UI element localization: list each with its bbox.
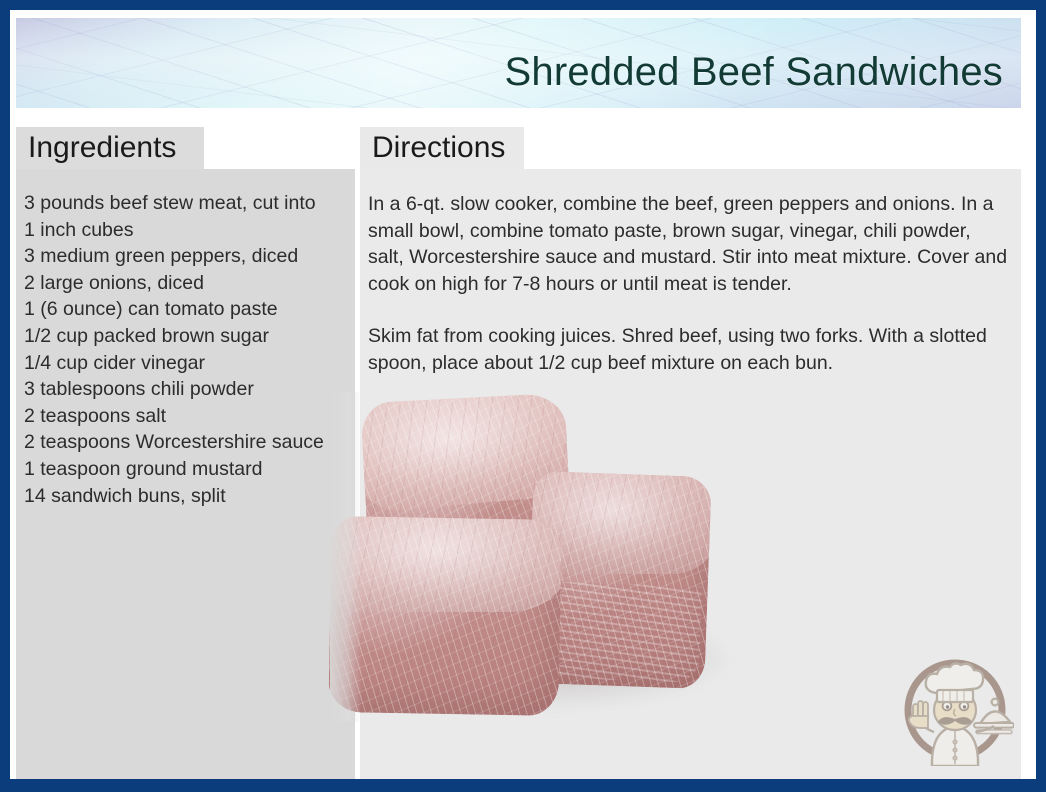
directions-heading: Directions [372, 129, 505, 167]
list-item: 1 (6 ounce) can tomato paste [24, 296, 360, 323]
list-item: 1/4 cup cider vinegar [24, 350, 360, 377]
directions-paragraph: In a 6-qt. slow cooker, combine the beef… [368, 191, 1008, 297]
ingredients-tab: Ingredients [16, 127, 204, 169]
header-banner: Shredded Beef Sandwiches [16, 18, 1021, 108]
list-item: 2 large onions, diced [24, 270, 360, 297]
chef-logo-watermark [896, 646, 1014, 766]
list-item: 1/2 cup packed brown sugar [24, 323, 360, 350]
page-title: Shredded Beef Sandwiches [505, 49, 1003, 95]
directions-tab: Directions [360, 127, 524, 169]
list-item: 2 teaspoons salt [24, 403, 360, 430]
directions-paragraph: Skim fat from cooking juices. Shred beef… [368, 323, 1008, 376]
directions-text: In a 6-qt. slow cooker, combine the beef… [368, 191, 1008, 403]
list-item: 3 tablespoons chili powder [24, 376, 360, 403]
list-item: 3 medium green peppers, diced [24, 243, 360, 270]
recipe-card-page: Shredded Beef Sandwiches Ingredients 3 p… [0, 0, 1046, 792]
list-item: 2 teaspoons Worcestershire sauce [24, 429, 360, 456]
ingredients-heading: Ingredients [28, 129, 176, 167]
list-item: 1 teaspoon ground mustard [24, 456, 360, 483]
ingredients-list: 3 pounds beef stew meat, cut into 1 inch… [24, 190, 360, 509]
list-item: 1 inch cubes [24, 217, 360, 244]
list-item: 14 sandwich buns, split [24, 483, 360, 510]
chef-logo-icon [896, 646, 1014, 766]
list-item: 3 pounds beef stew meat, cut into [24, 190, 360, 217]
